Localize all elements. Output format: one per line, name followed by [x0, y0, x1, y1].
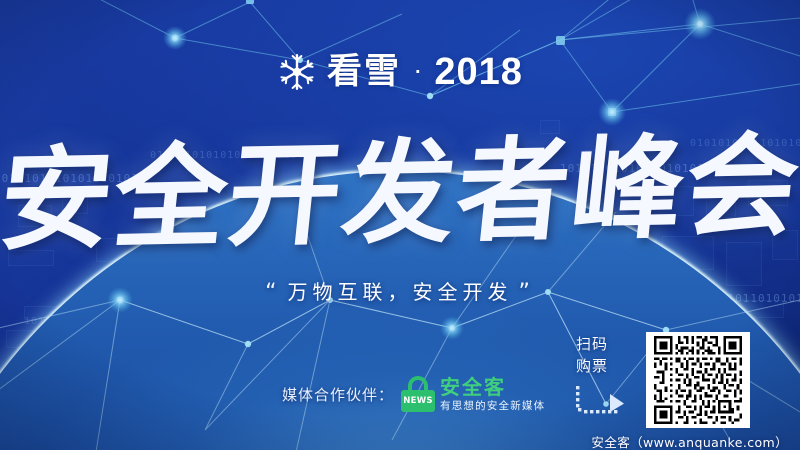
subtitle-text: 万物互联，安全开发: [288, 280, 513, 304]
snowflake-icon: [277, 52, 317, 92]
media-partner-label: 媒体合作伙伴：: [282, 384, 394, 405]
dotted-arrow-right-icon: [574, 386, 626, 416]
partner-slogan: 有思想的安全新媒体: [440, 401, 545, 412]
lock-icon: NEWS: [401, 376, 435, 412]
brand-year: 2018: [434, 53, 523, 91]
ticket-qr-block: 扫码 购票: [572, 332, 792, 444]
qr-code-image: [650, 336, 746, 424]
brand-lockup: 看雪 · 2018: [0, 52, 800, 92]
media-partner-block: 媒体合作伙伴： NEWS 安全客 有思想的安全新媒体: [282, 376, 545, 412]
brand-separator: ·: [411, 56, 424, 89]
lock-body: NEWS: [401, 390, 435, 412]
website-label: 安全客（www.anquanke.com）: [591, 432, 788, 450]
close-quote-mark: ”: [513, 280, 541, 305]
qr-code[interactable]: [646, 332, 750, 428]
news-badge: NEWS: [403, 396, 433, 406]
scan-line-1: 扫码: [576, 334, 608, 356]
event-poster: 1010101010101010101 01010101010101010101…: [0, 0, 800, 450]
scan-line-2: 购票: [576, 356, 608, 378]
brand-name: 看雪: [327, 55, 401, 90]
anquanke-text: 安全客 有思想的安全新媒体: [440, 377, 545, 412]
scan-to-buy-label: 扫码 购票: [576, 334, 608, 378]
poster-content: 看雪 · 2018 安全开发者峰会 “万物互联，安全开发” 媒体合作伙伴： NE…: [0, 0, 800, 450]
anquanke-logo[interactable]: NEWS 安全客 有思想的安全新媒体: [401, 376, 545, 412]
subtitle-slogan: “万物互联，安全开发”: [0, 276, 800, 305]
open-quote-mark: “: [259, 280, 287, 305]
page-title: 安全开发者峰会: [0, 128, 800, 261]
partner-name: 安全客: [440, 377, 545, 397]
